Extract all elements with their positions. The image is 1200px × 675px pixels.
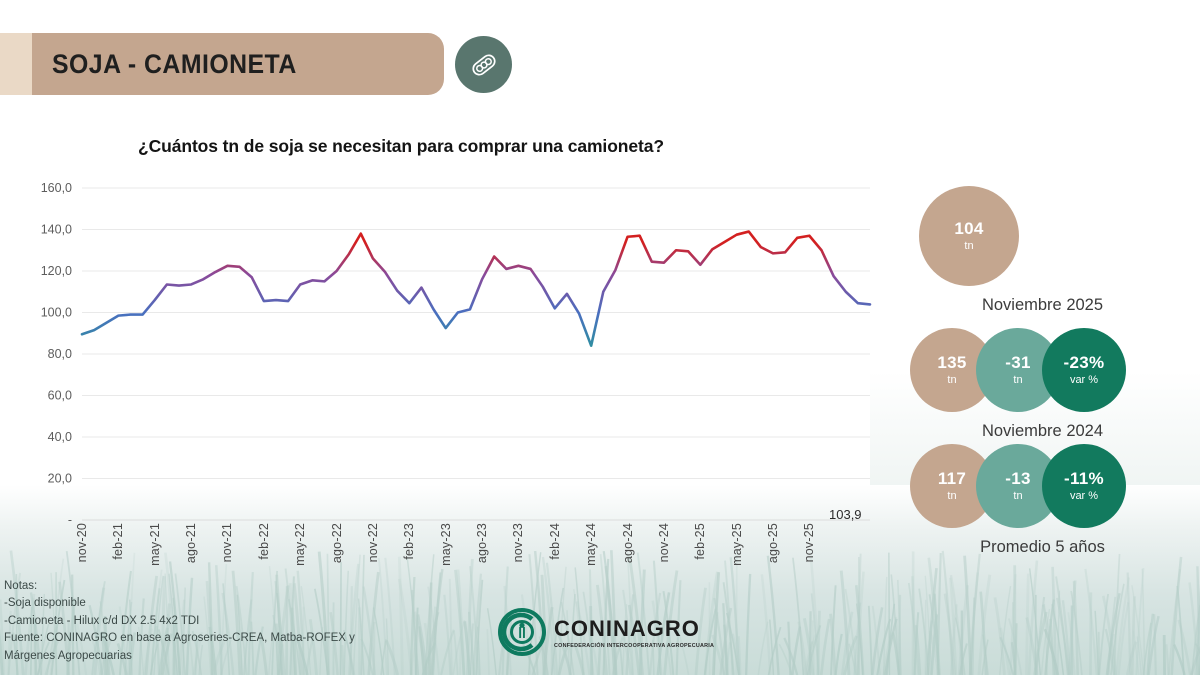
x-axis-tick-label: nov-21 [220,523,234,562]
bubble-unit: var % [1070,491,1098,503]
bubble-unit: tn [964,241,973,253]
coninagro-mark-icon [497,607,547,657]
x-axis-tick-label: may-25 [730,523,744,566]
bubble-value: -11% [1064,470,1104,488]
x-axis-tick-label: ago-23 [475,523,489,563]
note-line: Márgenes Agropecuarias [4,648,524,665]
bubble-unit: tn [947,375,956,387]
x-axis-tick-label: nov-24 [657,523,671,562]
line-chart: -20,040,060,080,0100,0120,0140,0160,0 [0,180,890,530]
chart-data-line [82,232,870,346]
x-axis-tick-label: may-24 [584,523,598,566]
x-axis-tick-label: may-22 [293,523,307,566]
coninagro-logo: CONINAGRO CONFEDERACIÓN INTERCOOPERATIVA… [497,607,714,657]
bubble-value: -31 [1005,354,1030,372]
x-axis-tick-label: ago-21 [184,523,198,563]
bubble-value: -13 [1005,470,1030,488]
x-axis-tick-label: may-21 [148,523,162,566]
bubble-value: -23% [1064,354,1105,372]
note-line: Notas: [4,578,524,595]
x-axis-tick-label: feb-21 [111,523,125,560]
chart-area: -20,040,060,080,0100,0120,0140,0160,0 10… [0,180,890,530]
bubble-value: 117 [938,470,966,488]
note-line: -Camioneta - Hilux c/d DX 2.5 4x2 TDI [4,613,524,630]
svg-text:120,0: 120,0 [41,264,72,278]
summary-group-label: Noviembre 2025 [905,296,1180,315]
logo-name: CONINAGRO [554,616,714,642]
chart-x-axis-labels: nov-20feb-21may-21ago-21nov-21feb-22may-… [0,523,890,585]
x-axis-tick-label: feb-25 [693,523,707,560]
svg-text:160,0: 160,0 [41,181,72,195]
x-axis-tick-label: nov-25 [802,523,816,562]
bubble-value: 135 [937,354,966,372]
x-axis-tick-label: feb-22 [257,523,271,560]
note-line: -Soja disponible [4,595,524,612]
x-axis-tick-label: feb-24 [548,523,562,560]
logo-subtitle: CONFEDERACIÓN INTERCOOPERATIVA AGROPECUA… [554,643,714,649]
x-axis-tick-label: ago-24 [621,523,635,563]
notes-block: Notas:-Soja disponible-Camioneta - Hilux… [4,578,524,665]
svg-text:80,0: 80,0 [48,347,72,361]
header-bar: SOJA - CAMIONETA [32,33,444,95]
x-axis-tick-label: may-23 [439,523,453,566]
x-axis-tick-label: nov-23 [511,523,525,562]
svg-text:140,0: 140,0 [41,223,72,237]
bubble-value: 104 [954,220,983,238]
x-axis-tick-label: ago-22 [330,523,344,563]
variation-bubble: -23%var % [1042,328,1126,412]
svg-text:100,0: 100,0 [41,306,72,320]
chart-question-title: ¿Cuántos tn de soja se necesitan para co… [138,136,664,157]
svg-text:20,0: 20,0 [48,472,72,486]
svg-text:40,0: 40,0 [48,430,72,444]
value-bubble: 104tn [919,186,1019,286]
note-line: Fuente: CONINAGRO en base a Agroseries-C… [4,630,524,647]
chart-end-value-label: 103,9 [829,507,862,522]
variation-bubble: -11%var % [1042,444,1126,528]
x-axis-tick-label: ago-25 [766,523,780,563]
svg-text:60,0: 60,0 [48,389,72,403]
summary-group-label: Promedio 5 años [905,538,1180,557]
x-axis-tick-label: nov-22 [366,523,380,562]
bubble-unit: tn [947,491,956,503]
soybean-pod-icon [455,36,512,93]
bubble-unit: tn [1013,375,1022,387]
x-axis-tick-label: feb-23 [402,523,416,560]
bubble-unit: tn [1013,491,1022,503]
page-title: SOJA - CAMIONETA [52,49,297,80]
bubble-unit: var % [1070,375,1098,387]
summary-group-label: Noviembre 2024 [905,422,1180,441]
x-axis-tick-label: nov-20 [75,523,89,562]
